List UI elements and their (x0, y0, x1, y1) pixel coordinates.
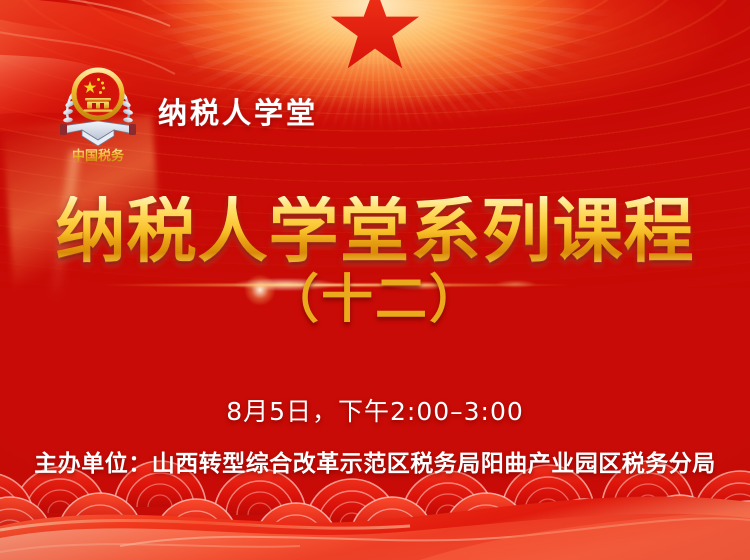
brand-header: 中国税务 纳税人学堂 (52, 58, 318, 163)
five-pointed-star-icon (327, 0, 423, 76)
brand-title: 纳税人学堂 (158, 90, 318, 132)
china-tax-emblem-icon: 中国税务 (52, 58, 144, 163)
bottom-silk-ribbon (0, 480, 750, 560)
emblem-caption-text: 中国税务 (72, 148, 125, 163)
event-info-block: 8月5日，下午2:00–3:00 主办单位：山西转型综合改革示范区税务局阳曲产业… (0, 392, 750, 478)
main-title-block: 纳税人学堂系列课程 （十二） (0, 196, 750, 328)
poster-canvas: 中国税务 纳税人学堂 纳税人学堂系列课程 （十二） 8月5日，下午2:00–3:… (0, 0, 750, 560)
poster-title-primary: 纳税人学堂系列课程 (0, 196, 750, 267)
event-datetime: 8月5日，下午2:00–3:00 (0, 392, 750, 428)
event-organizer: 主办单位：山西转型综合改革示范区税务局阳曲产业园区税务分局 (0, 444, 750, 478)
poster-title-episode: （十二） (0, 273, 750, 328)
